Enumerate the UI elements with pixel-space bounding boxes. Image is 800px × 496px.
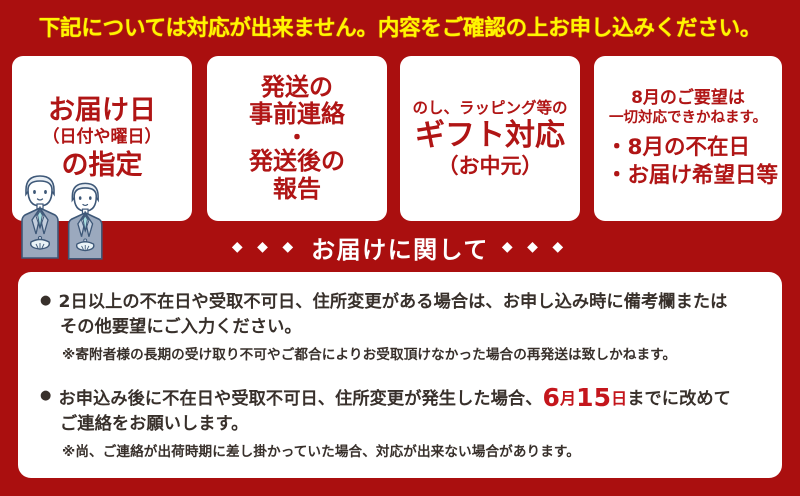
card2-line1: 発送の [261,74,333,101]
note2-footnote: ※尚、ご連絡が出荷時期に差し掛かっていた場合、対応が出来ない場合があります。 [40,442,762,462]
panel-spacer [40,369,762,385]
deadline-day-unit: 日 [611,389,627,408]
header-title: 下記については対応が出来ません。内容をご確認の上お申し込みください。 [39,11,761,42]
card2-line4: 報告 [273,176,321,203]
card4-line1: 8月のご要望は [631,88,745,109]
two-people-bowing-icon [18,168,122,268]
deadline-day-number: 15 [576,383,611,412]
note1-line2: その他要望にご入力ください。 [60,315,762,340]
card2-separator-dot: ・ [286,129,308,148]
card-gift-wrapping: のし、ラッピング等の ギフト対応 （お中元） [400,56,580,221]
card3-line3: （お中元） [438,154,543,179]
card1-line1: お届け日 [48,96,156,126]
note2-line1-pre: お申込み後に不在日や受取不可日、住所変更が発生した場合、 [58,389,542,409]
card4-item2: ・お届け希望日等 [594,162,778,190]
bullet-icon: ● [40,385,58,408]
card-shipping-notification: 発送の 事前連絡 ・ 発送後の 報告 [207,56,387,221]
card3-line2: ギフト対応 [415,118,565,153]
note-item-absence-change: ● 2日以上の不在日や受取不可日、住所変更がある場合は、お申し込み時に備考欄また… [40,290,762,365]
note1-footnote: ※寄附者様の長期の受け取り不可やご都合によりお受取頂けなかった場合の再発送は致し… [40,345,762,365]
card1-line2: （日付や曜日） [43,126,162,149]
delivery-notes-panel: ● 2日以上の不在日や受取不可日、住所変更がある場合は、お申し込み時に備考欄また… [18,272,782,478]
card4-line2: 一切対応できかねます。 [609,109,767,128]
note1-line1: 2日以上の不在日や受取不可日、住所変更がある場合は、お申し込み時に備考欄または [58,290,762,315]
card2-line2: 事前連絡 [249,101,345,128]
note2-line1: お申込み後に不在日や受取不可日、住所変更が発生した場合、6月15日までに改めて [58,385,762,412]
section-title: お届けに関して [311,230,489,265]
header-banner: 下記については対応が出来ません。内容をご確認の上お申し込みください。 [0,0,800,52]
diamond-right-icon: ◆ ◆ ◆ [502,240,568,254]
card-august-requests: 8月のご要望は 一切対応できかねます。 ・8月の不在日 ・お届け希望日等 [594,56,782,221]
note2-line1-post: までに改めて [627,389,731,409]
card4-item1: ・8月の不在日 [594,134,750,162]
diamond-left-icon: ◆ ◆ ◆ [232,240,298,254]
deadline-month-number: 6 [543,383,561,412]
bullet-icon: ● [40,290,58,313]
card3-line1: のし、ラッピング等の [412,98,567,118]
note2-line2: ご連絡をお願いします。 [60,412,762,437]
note-item-post-application-change: ● お申込み後に不在日や受取不可日、住所変更が発生した場合、6月15日までに改め… [40,385,762,462]
card2-line3: 発送後の [249,148,345,175]
deadline-month-unit: 月 [560,389,576,408]
deadline-date-highlight: 6月15日 [543,385,628,412]
